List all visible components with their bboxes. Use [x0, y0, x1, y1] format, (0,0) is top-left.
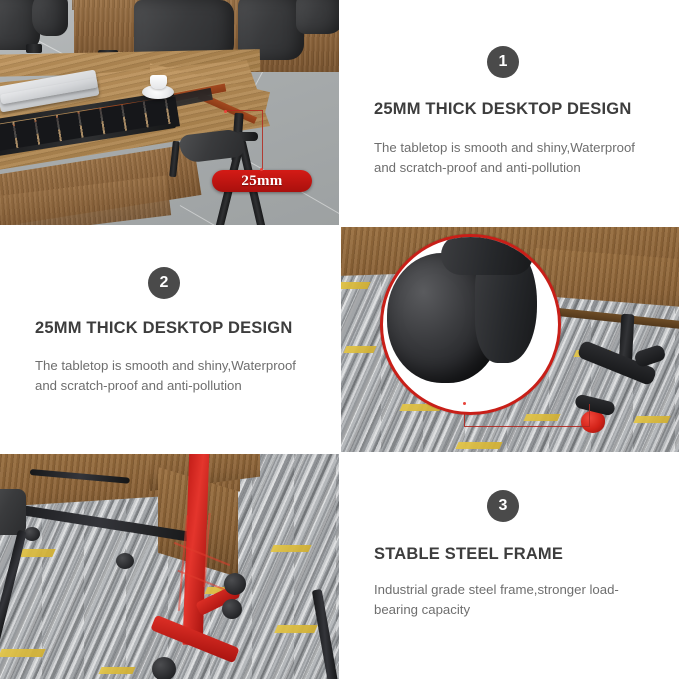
carpet-accent-tile — [633, 416, 670, 423]
caster-wheel — [116, 553, 134, 569]
carpet-accent-tile — [98, 667, 135, 674]
conference-table-scene: 25mm — [0, 0, 339, 226]
caster-wheel — [24, 527, 40, 541]
feature-headline-2: 25MM THICK DESKTOP DESIGN — [35, 319, 292, 338]
feature-number-3: 3 — [499, 498, 508, 514]
chair-back-rest — [296, 0, 339, 34]
caster-wheel-scene — [339, 226, 679, 453]
feature-panel-2: 2 25MM THICK DESKTOP DESIGN The tabletop… — [0, 226, 339, 453]
carpet-accent-tile — [270, 545, 311, 552]
carpet-accent-tile — [339, 282, 371, 289]
carpet-accent-tile — [274, 625, 318, 633]
chair-connector — [26, 44, 42, 53]
chair-back-rest — [32, 0, 68, 36]
zoom-magnifier-circle — [380, 234, 561, 415]
feature-headline-1: 25MM THICK DESKTOP DESIGN — [374, 100, 631, 119]
chair-seat — [0, 489, 26, 535]
feature-2-content: 2 25MM THICK DESKTOP DESIGN The tabletop… — [0, 226, 339, 453]
zoom-leader-dot — [463, 402, 466, 405]
carpet-accent-tile — [343, 346, 376, 353]
caster-wheel — [224, 573, 246, 595]
infographic-root: 25mm 1 25MM THICK DESKTOP DESIGN The tab… — [0, 0, 679, 679]
feature-body-2: The tabletop is smooth and shiny,Waterpr… — [35, 356, 310, 395]
coffee-cup — [150, 75, 167, 89]
feature-panel-1: 1 25MM THICK DESKTOP DESIGN The tabletop… — [339, 0, 679, 226]
zoom-wheel-top — [441, 235, 533, 275]
feature-number-1: 1 — [499, 54, 508, 70]
measure-end-dot — [260, 168, 263, 171]
measure-line-vertical — [262, 110, 263, 170]
feature-1-content: 1 25MM THICK DESKTOP DESIGN The tabletop… — [339, 0, 679, 226]
feature-headline-3: STABLE STEEL FRAME — [374, 545, 563, 564]
feature-panel-3: 3 STABLE STEEL FRAME Industrial grade st… — [339, 453, 679, 679]
photo-red-frame — [0, 453, 339, 679]
measure-anchor-dot — [224, 110, 227, 113]
caster-wheel — [222, 599, 242, 619]
feature-number-2: 2 — [160, 275, 169, 291]
photo-conference-table: 25mm — [0, 0, 339, 226]
feature-body-3: Industrial grade steel frame,stronger lo… — [374, 580, 649, 619]
measure-line-top — [225, 110, 263, 111]
feature-body-1: The tabletop is smooth and shiny,Waterpr… — [374, 138, 649, 177]
callout-badge-25mm: 25mm — [212, 170, 312, 192]
feature-number-badge-2: 2 — [148, 267, 180, 299]
red-frame-scene — [0, 453, 339, 679]
feature-number-badge-1: 1 — [487, 46, 519, 78]
caster-wheel — [152, 657, 176, 679]
carpet-accent-tile — [455, 442, 502, 449]
feature-3-content: 3 STABLE STEEL FRAME Industrial grade st… — [339, 453, 679, 679]
carpet-accent-tile — [0, 649, 46, 657]
callout-badge-label: 25mm — [241, 173, 282, 190]
photo-caster-wheel — [339, 226, 679, 453]
feature-number-badge-3: 3 — [487, 490, 519, 522]
